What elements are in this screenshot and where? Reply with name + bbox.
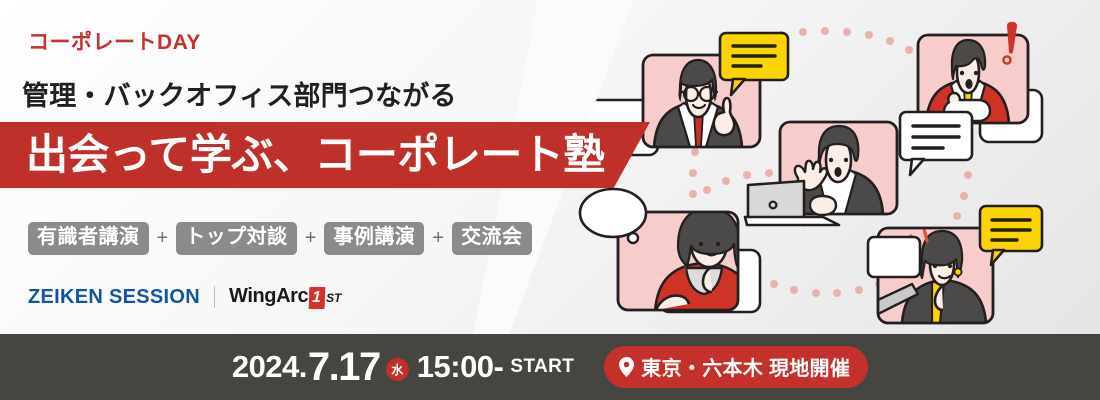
badge-networking: 交流会 [452, 222, 532, 255]
venue-label: 東京・六本木 現地開催 [641, 352, 850, 381]
illustration-artwork [560, 0, 1100, 334]
logo-divider [214, 286, 215, 308]
page-title: 出会って学ぶ、コーポレート塾 [26, 128, 626, 182]
event-time: 15:00- [417, 349, 504, 385]
wingarc-one-mark: 1 [309, 287, 326, 309]
wingarc-wordmark: WingArc [229, 285, 308, 308]
zeiken-session-logo: ZEIKEN SESSION [28, 286, 200, 309]
feature-badge-list: 有識者講演 + トップ対談 + 事例講演 + 交流会 [28, 222, 532, 255]
badge-separator-2: + [304, 228, 318, 248]
badge-separator-3: + [431, 228, 445, 248]
badge-separator-1: + [156, 228, 170, 248]
event-start-label: START [510, 356, 574, 378]
event-datetime: 2024. 7.17 水 15:00- START [232, 345, 574, 390]
event-month-day: 7.17 [308, 345, 380, 390]
logo-row: ZEIKEN SESSION WingArc1ST [28, 285, 341, 309]
event-weekday-badge: 水 [386, 358, 409, 381]
thought-bubble [580, 189, 646, 237]
wingarc1st-logo: WingArc1ST [229, 285, 341, 309]
event-details-bar: 2024. 7.17 水 15:00- START 東京・六本木 現地開催 [0, 334, 1100, 400]
speech-bubble-white-1 [900, 112, 972, 175]
venue-badge: 東京・六本木 現地開催 [604, 346, 868, 388]
eyebrow-label: コーポレートDAY [28, 26, 201, 56]
event-banner: コーポレートDAY 管理・バックオフィス部門つながる 出会って学ぶ、コーポレート… [0, 0, 1100, 400]
speech-bubble-white-2 [868, 237, 920, 277]
badge-case-study: 事例講演 [324, 222, 424, 255]
event-year: 2024. [232, 349, 307, 385]
wingarc-st-mark: ST [326, 291, 341, 305]
subtitle-text: 管理・バックオフィス部門つながる [22, 74, 457, 113]
location-pin-icon [619, 357, 634, 377]
badge-top-dialogue: トップ対談 [176, 222, 297, 255]
badge-expert-lecture: 有識者講演 [28, 222, 149, 255]
person-bottom-left [580, 189, 760, 312]
